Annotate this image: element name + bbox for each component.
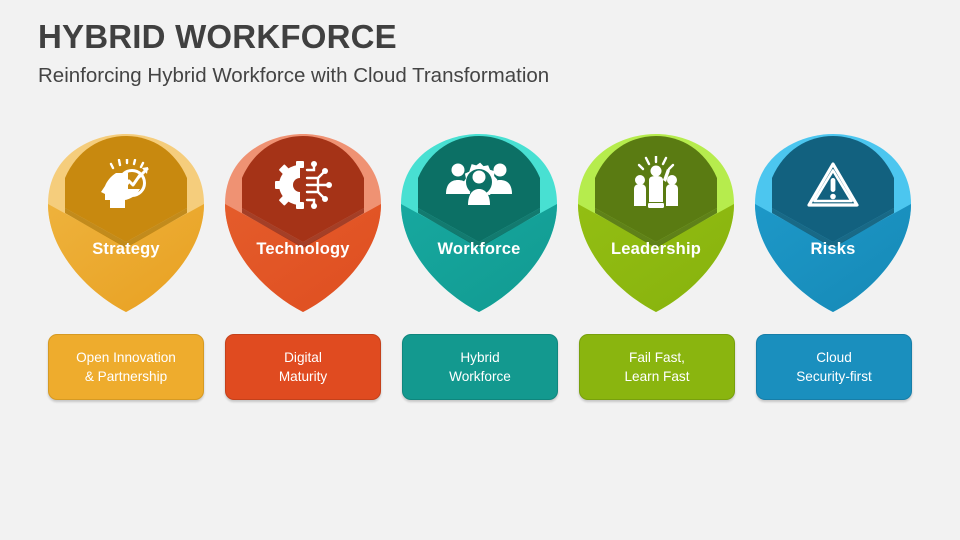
- pillar-leadership[interactable]: Leadership: [567, 132, 745, 314]
- pillar-workforce[interactable]: Workforce: [390, 132, 568, 314]
- caption-line-2: & Partnership: [76, 367, 176, 386]
- pillar-risks[interactable]: Risks: [744, 132, 922, 314]
- caption-line-2: Maturity: [279, 367, 327, 386]
- caption-line-1: Open Innovation: [76, 348, 176, 367]
- slide-canvas: HYBRID WORKFORCE Reinforcing Hybrid Work…: [0, 0, 960, 540]
- pillar-strategy[interactable]: Strategy: [37, 132, 215, 314]
- shield-shape-technology[interactable]: Technology: [214, 132, 392, 314]
- caption-box-risks[interactable]: Cloud Security-first: [756, 334, 912, 400]
- caption-box-leadership[interactable]: Fail Fast, Learn Fast: [579, 334, 735, 400]
- caption-line-2: Workforce: [449, 367, 511, 386]
- caption-box-technology[interactable]: Digital Maturity: [225, 334, 381, 400]
- caption-line-1: Cloud: [796, 348, 872, 367]
- shield-graphic: [567, 132, 745, 314]
- shield-graphic: [37, 132, 215, 314]
- caption-line-1: Digital: [279, 348, 327, 367]
- caption-line-1: Hybrid: [449, 348, 511, 367]
- caption-line-1: Fail Fast,: [625, 348, 690, 367]
- shield-graphic: [214, 132, 392, 314]
- pillar-technology[interactable]: Technology: [214, 132, 392, 314]
- shield-shape-strategy[interactable]: Strategy: [37, 132, 215, 314]
- shield-graphic: [390, 132, 568, 314]
- shield-graphic: [744, 132, 922, 314]
- shield-shape-risks[interactable]: Risks: [744, 132, 922, 314]
- caption-box-workforce[interactable]: Hybrid Workforce: [402, 334, 558, 400]
- slide-header: HYBRID WORKFORCE Reinforcing Hybrid Work…: [38, 16, 918, 90]
- caption-box-strategy[interactable]: Open Innovation & Partnership: [48, 334, 204, 400]
- caption-line-2: Learn Fast: [625, 367, 690, 386]
- shield-shape-leadership[interactable]: Leadership: [567, 132, 745, 314]
- page-subtitle: Reinforcing Hybrid Workforce with Cloud …: [38, 62, 918, 90]
- page-title: HYBRID WORKFORCE: [38, 16, 918, 58]
- caption-line-2: Security-first: [796, 367, 872, 386]
- shield-shape-workforce[interactable]: Workforce: [390, 132, 568, 314]
